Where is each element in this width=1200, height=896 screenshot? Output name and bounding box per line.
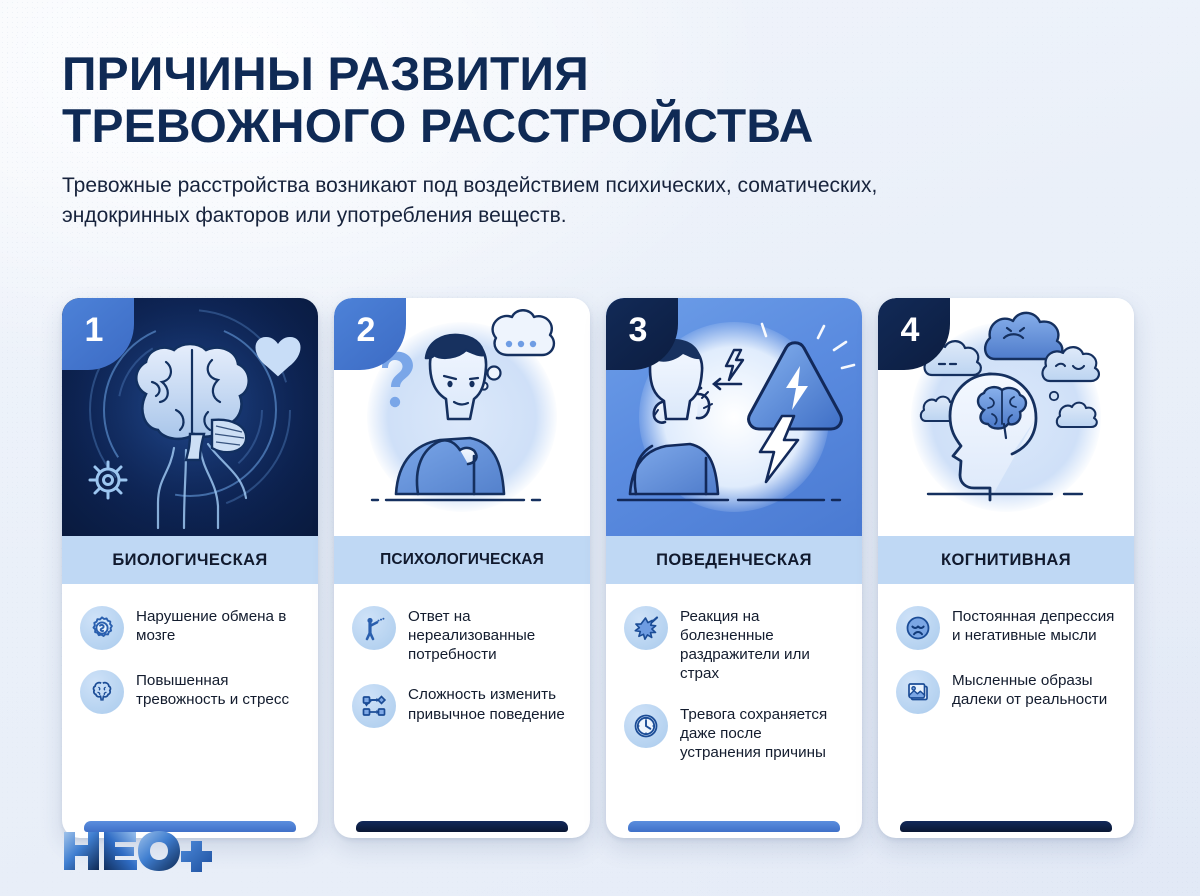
burst-impact-icon: [624, 606, 668, 650]
card-psychological[interactable]: 2 ПСИХОЛОГИЧЕСКАЯ: [334, 298, 590, 838]
logo-icon: [62, 828, 212, 874]
list-item: Мысленные образы далеки от реальности: [896, 670, 1118, 714]
page-title: ПРИЧИНЫ РАЗВИТИЯ ТРЕВОЖНОГО РАССТРОЙСТВА: [62, 48, 1164, 151]
list-item: Постоянная депрессия и негативные мысли: [896, 606, 1118, 650]
flow-diagram-icon: [352, 684, 396, 728]
card-illustration-brain-network: 1: [62, 298, 318, 536]
card-illustration-head-thoughts: 4: [878, 298, 1134, 536]
infographic-page: ПРИЧИНЫ РАЗВИТИЯ ТРЕВОЖНОГО РАССТРОЙСТВА…: [0, 0, 1200, 896]
list-item-text: Мысленные образы далеки от реальности: [952, 670, 1118, 709]
list-item-text: Ответ на нереализованные потребности: [408, 606, 574, 664]
card-biological[interactable]: 1 БИОЛОГИЧЕСКАЯ Нарушение обмена в мозге: [62, 298, 318, 838]
list-item-text: Реакция на болезненные раздражители или …: [680, 606, 846, 684]
card-label-behavioral: ПОВЕДЕНЧЕСКАЯ: [606, 536, 862, 584]
page-title-line1: ПРИЧИНЫ РАЗВИТИЯ: [62, 47, 589, 100]
card-number: 3: [629, 313, 648, 347]
list-item: Ответ на нереализованные потребности: [352, 606, 574, 664]
list-item: Сложность изменить привычное поведение: [352, 684, 574, 728]
card-footer-bar: [334, 822, 590, 838]
header: ПРИЧИНЫ РАЗВИТИЯ ТРЕВОЖНОГО РАССТРОЙСТВА…: [62, 48, 1142, 231]
card-label-biological: БИОЛОГИЧЕСКАЯ: [62, 536, 318, 584]
list-item-text: Нарушение обмена в мозге: [136, 606, 302, 645]
clock-icon: [624, 704, 668, 748]
brain-icon: [80, 670, 124, 714]
list-item-text: Постоянная депрессия и негативные мысли: [952, 606, 1118, 645]
card-footer-bar: [878, 822, 1134, 838]
cards-row: 1 БИОЛОГИЧЕСКАЯ Нарушение обмена в мозге: [62, 298, 1140, 838]
list-item: Повышенная тревожность и стресс: [80, 670, 302, 714]
list-item-text: Повышенная тревожность и стресс: [136, 670, 302, 709]
person-speaking-icon: [352, 606, 396, 650]
page-subtitle: Тревожные расстройства возникают под воз…: [62, 171, 992, 231]
card-footer-bar: [606, 822, 862, 838]
list-item: Нарушение обмена в мозге: [80, 606, 302, 650]
card-number: 4: [901, 313, 920, 347]
card-bullets: Нарушение обмена в мозге Повыш: [62, 584, 318, 822]
card-label-cognitive: КОГНИТИВНАЯ: [878, 536, 1134, 584]
list-item-text: Тревога сохраняется даже после устранени…: [680, 704, 846, 762]
list-item: Реакция на болезненные раздражители или …: [624, 606, 846, 684]
card-illustration-thinking-man: 2: [334, 298, 590, 536]
card-cognitive[interactable]: 4 КОГНИТИВНАЯ: [878, 298, 1134, 838]
list-item-text: Сложность изменить привычное поведение: [408, 684, 574, 723]
card-number: 1: [85, 313, 104, 347]
sad-face-icon: [896, 606, 940, 650]
card-label-psychological: ПСИХОЛОГИЧЕСКАЯ: [334, 536, 590, 584]
page-title-line2: ТРЕВОЖНОГО РАССТРОЙСТВА: [62, 100, 1164, 152]
logo-neo-plus[interactable]: [62, 828, 212, 874]
gear-metabolism-icon: [80, 606, 124, 650]
card-bullets: Ответ на нереализованные потребности: [334, 584, 590, 822]
card-illustration-startled-man: 3: [606, 298, 862, 536]
card-bullets: Постоянная депрессия и негативные мысли …: [878, 584, 1134, 822]
card-behavioral[interactable]: 3 ПОВЕДЕНЧЕСКАЯ Реакция на болезненные р…: [606, 298, 862, 838]
images-icon: [896, 670, 940, 714]
card-number: 2: [357, 313, 376, 347]
list-item: Тревога сохраняется даже после устранени…: [624, 704, 846, 762]
card-bullets: Реакция на болезненные раздражители или …: [606, 584, 862, 822]
